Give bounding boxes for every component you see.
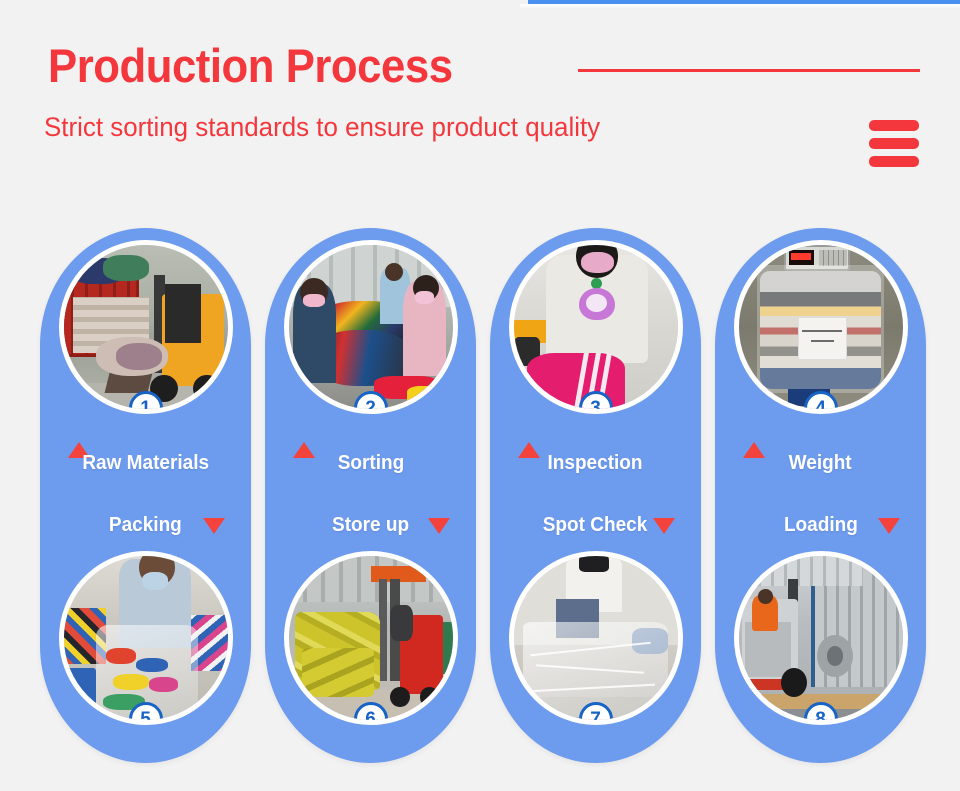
process-card-2[interactable]: 2 Sorting Store up 6	[265, 228, 476, 763]
process-card-1[interactable]: 1 Raw Materials Packing 5	[40, 228, 251, 763]
step-label-row-top: Raw Materials	[40, 440, 251, 486]
hamburger-bar-1	[869, 120, 919, 131]
step-label-row-top: Weight	[715, 440, 926, 486]
hamburger-menu-icon[interactable]	[869, 120, 919, 167]
step-label: Loading	[784, 514, 858, 537]
step-label-row-bottom: Packing	[40, 502, 251, 548]
step-label-row-bottom: Store up	[265, 502, 476, 548]
spot-check-photo: 7	[509, 551, 683, 725]
arrow-up-icon	[293, 442, 315, 458]
loading-photo: 8	[734, 551, 908, 725]
process-steps-row: 1 Raw Materials Packing 5	[40, 228, 926, 763]
arrow-up-icon	[518, 442, 540, 458]
production-process-page: Production Process Strict sorting standa…	[0, 0, 960, 791]
page-title: Production Process	[48, 38, 453, 93]
inspection-photo: 3	[509, 240, 683, 414]
step-label: Inspection	[548, 452, 643, 475]
step-label-row-top: Sorting	[265, 440, 476, 486]
step-label: Weight	[789, 452, 852, 475]
step-label: Raw Materials	[82, 452, 209, 475]
process-card-3[interactable]: 3 Inspection Spot Check 7	[490, 228, 701, 763]
title-underline-rule	[578, 69, 920, 72]
arrow-down-icon	[878, 518, 900, 534]
packing-photo: 5	[59, 551, 233, 725]
store-up-photo: 6	[284, 551, 458, 725]
sorting-photo: 2	[284, 240, 458, 414]
page-subtitle: Strict sorting standards to ensure produ…	[44, 112, 600, 143]
process-card-4[interactable]: 4 Weight Loading 8	[715, 228, 926, 763]
arrow-down-icon	[653, 518, 675, 534]
step-label-row-bottom: Loading	[715, 502, 926, 548]
step-label: Store up	[332, 514, 409, 537]
arrow-up-icon	[743, 442, 765, 458]
weight-photo: 4	[734, 240, 908, 414]
step-label: Packing	[109, 514, 182, 537]
step-label: Spot Check	[543, 514, 648, 537]
arrow-down-icon	[428, 518, 450, 534]
page-header: Production Process Strict sorting standa…	[0, 0, 960, 210]
raw-materials-photo: 1	[59, 240, 233, 414]
hamburger-bar-2	[869, 138, 919, 149]
arrow-down-icon	[203, 518, 225, 534]
step-label: Sorting	[337, 452, 404, 475]
step-label-row-bottom: Spot Check	[490, 502, 701, 548]
hamburger-bar-3	[869, 156, 919, 167]
step-label-row-top: Inspection	[490, 440, 701, 486]
